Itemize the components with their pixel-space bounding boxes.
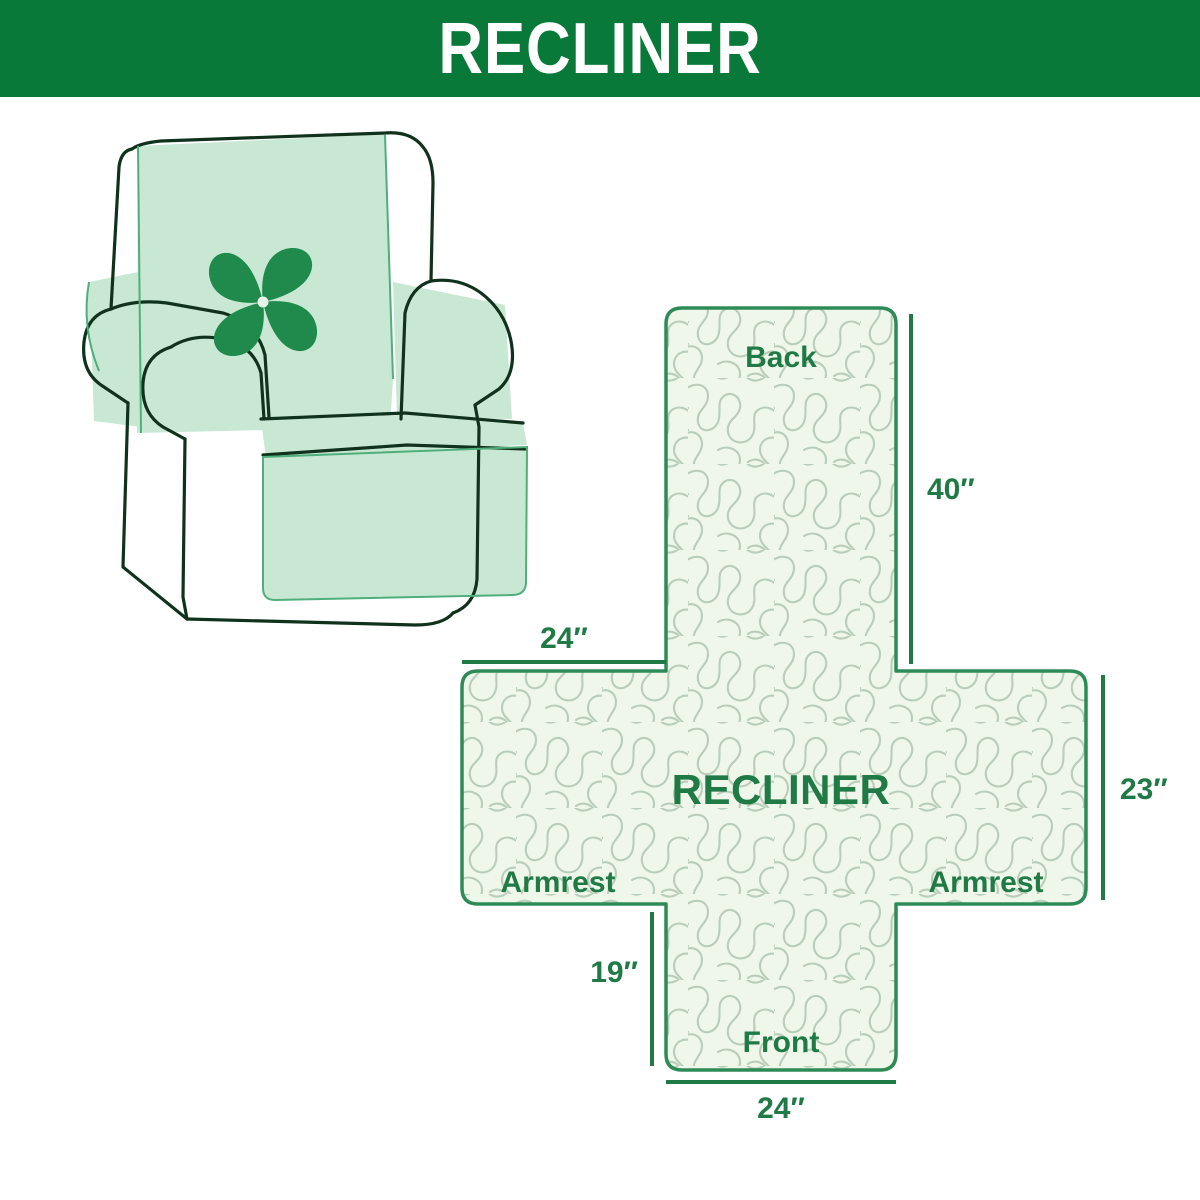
page-title: RECLINER — [438, 13, 761, 85]
dim-label-body-height: 23″ — [1120, 773, 1168, 806]
header-banner: RECLINER — [0, 0, 1200, 97]
label-recliner-center: RECLINER — [672, 766, 891, 813]
cross-panel-outline — [462, 308, 1086, 1070]
dim-label-back-height: 40″ — [927, 473, 975, 506]
label-armrest-left: Armrest — [500, 866, 615, 899]
fan-hub — [258, 297, 269, 308]
left-body-front-edge — [183, 439, 187, 619]
dim-label-front-height: 19″ — [590, 956, 638, 989]
dim-label-armrest-top-width: 24″ — [540, 622, 588, 655]
label-armrest-right: Armrest — [928, 866, 1043, 899]
content-area: Back RECLINER Armrest Armrest Front 40″ … — [0, 97, 1200, 1200]
pattern-svg: Back RECLINER Armrest Armrest Front 40″ … — [430, 292, 1200, 1192]
base-front-edge — [187, 613, 453, 625]
label-back: Back — [745, 341, 817, 374]
cover-cross-shape — [462, 308, 1086, 1070]
dim-label-front-width: 24″ — [757, 1092, 805, 1125]
cover-pattern-diagram: Back RECLINER Armrest Armrest Front 40″ … — [430, 292, 1200, 1192]
label-front: Front — [743, 1026, 820, 1059]
